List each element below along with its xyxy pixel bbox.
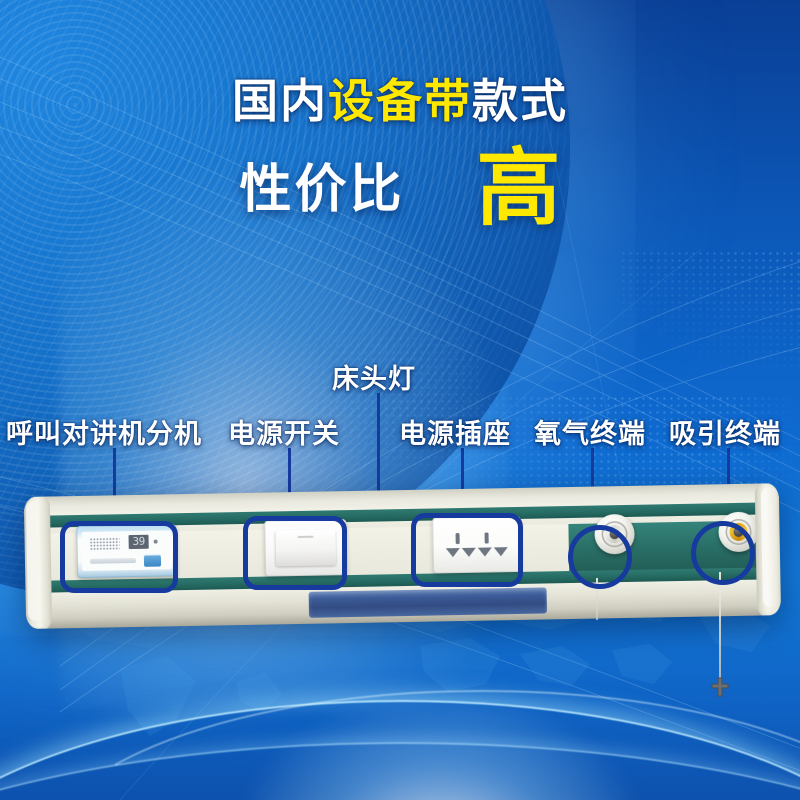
status-led-icon <box>154 540 158 544</box>
power-light-switch[interactable] <box>264 519 347 576</box>
socket-pin-left-top <box>456 533 460 544</box>
call-button-icon[interactable] <box>144 555 161 567</box>
intercom-vent-slot <box>90 558 136 564</box>
panel-body: 39 <box>24 483 781 629</box>
socket-pin-a2 <box>462 548 476 557</box>
socket-pin-right-top <box>485 533 489 544</box>
socket-pin-a1 <box>446 548 460 557</box>
speaker-grille-icon <box>90 537 120 551</box>
socket-pin-a4 <box>494 547 508 556</box>
panel-right-end-cap <box>755 483 781 617</box>
oxygen-outlet-ring <box>601 521 627 547</box>
lamp-diffuser-icon <box>309 587 547 617</box>
suction-outlet-ring <box>725 519 751 545</box>
rocker-switch-marking <box>298 536 314 538</box>
rocker-switch-icon[interactable] <box>275 529 336 566</box>
nurse-call-intercom-unit[interactable]: 39 <box>76 524 177 578</box>
left-cap-highlight <box>26 501 44 621</box>
bed-head-unit-panel: 39 <box>24 483 781 629</box>
right-cap-highlight <box>761 487 779 607</box>
intercom-faceplate: 39 <box>81 530 172 571</box>
socket-pin-a3 <box>478 547 492 556</box>
panel-left-end-cap <box>24 495 52 629</box>
universal-power-socket[interactable] <box>432 516 521 574</box>
intercom-display: 39 <box>129 535 149 549</box>
product-banner: 国内设备带款式 性价比高 呼叫对讲机分机 电源开关 床头灯 电源插座 氧气终端 … <box>0 0 800 800</box>
